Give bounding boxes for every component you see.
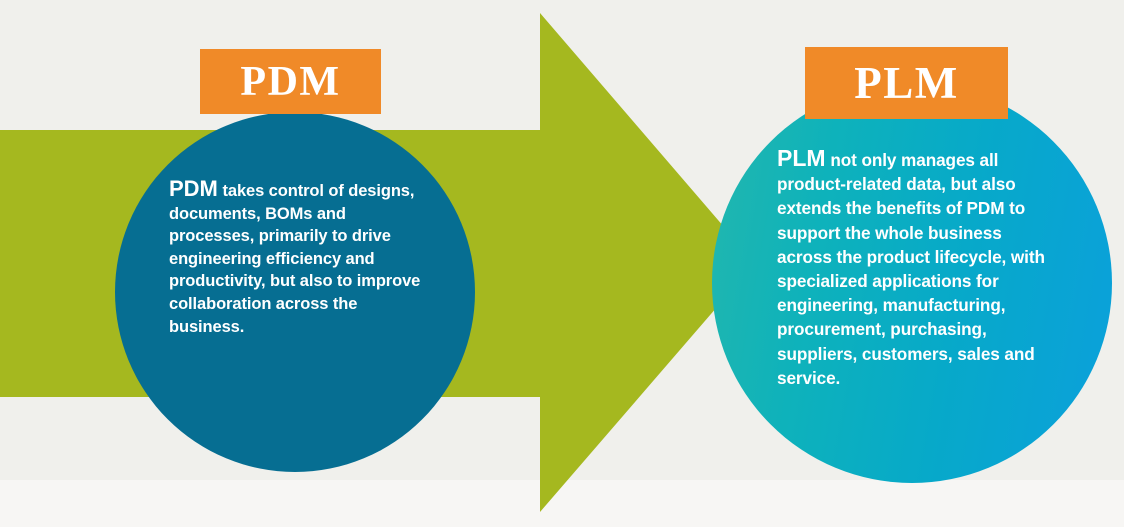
pdm-lead-word: PDM — [169, 176, 218, 201]
pdm-description: PDM takes control of designs, documents,… — [169, 178, 421, 338]
plm-body-text: not only manages all product-related dat… — [777, 150, 1045, 388]
plm-badge-label: PLM — [854, 57, 958, 109]
plm-description: PLM not only manages all product-related… — [777, 146, 1053, 390]
pdm-title-badge: PDM — [200, 49, 381, 114]
plm-lead-word: PLM — [777, 145, 826, 171]
infographic-canvas: PDM takes control of designs, documents,… — [0, 0, 1124, 527]
pdm-body-text: takes control of designs, documents, BOM… — [169, 182, 420, 336]
plm-title-badge: PLM — [805, 47, 1008, 119]
pdm-badge-label: PDM — [240, 58, 340, 106]
